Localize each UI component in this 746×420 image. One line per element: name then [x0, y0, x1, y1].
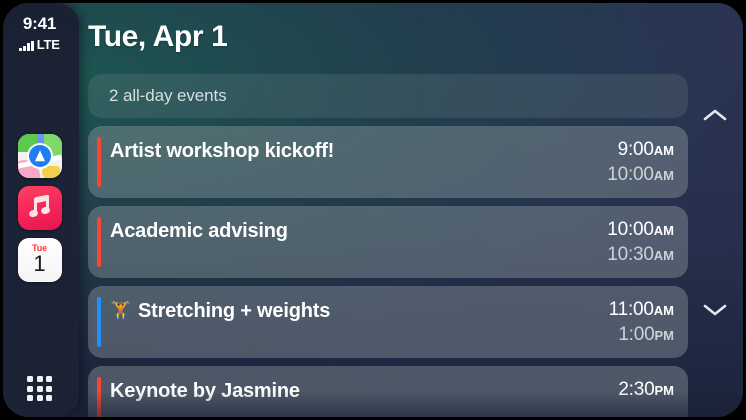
calendar-content: Tue, Apr 1 2 all-day events Artist works… [79, 3, 743, 417]
maps-navigation-badge [29, 145, 51, 167]
event-end-time: 10:00AM [607, 163, 674, 188]
event-times: 9:00AM 10:00AM [607, 138, 674, 188]
event-emoji: 🏋️ [110, 301, 131, 321]
calendar-day: 1 [33, 252, 45, 276]
cellular-bars-icon [19, 40, 34, 51]
event-accent-bar [97, 297, 101, 347]
music-icon[interactable] [18, 186, 62, 230]
event-start-time: 11:00AM [609, 298, 674, 323]
navigation-arrow-icon [35, 150, 45, 161]
app-rail: Tue 1 [3, 134, 76, 282]
maps-icon[interactable] [18, 134, 62, 178]
event-title: 🏋️ Stretching + weights [110, 299, 538, 323]
event-title: Artist workshop kickoff! [110, 139, 538, 163]
app-grid-button[interactable] [3, 376, 76, 401]
event-title-text: Keynote by Jasmine [110, 379, 300, 403]
event-accent-bar [97, 217, 101, 267]
event-times: 11:00AM 1:00PM [609, 298, 674, 348]
event-end-time: 10:30AM [607, 243, 674, 268]
event-card-3[interactable]: Keynote by Jasmine 2:30PM [88, 366, 688, 417]
all-day-events-row[interactable]: 2 all-day events [88, 74, 688, 118]
calendar-icon[interactable]: Tue 1 [18, 238, 62, 282]
sidebar: 9:41 LTE [3, 3, 79, 417]
event-title-text: Stretching + weights [138, 299, 330, 323]
event-title: Keynote by Jasmine [110, 379, 538, 403]
event-card-1[interactable]: Academic advising 10:00AM 10:30AM [88, 206, 688, 278]
event-title-text: Academic advising [110, 219, 288, 243]
music-note-icon [28, 196, 52, 220]
event-title: Academic advising [110, 219, 538, 243]
event-accent-bar [97, 377, 101, 417]
event-start-time: 2:30PM [618, 378, 674, 403]
maps-highway-shape [42, 166, 60, 178]
event-card-0[interactable]: Artist workshop kickoff! 9:00AM 10:00AM [88, 126, 688, 198]
event-list: 2 all-day events Artist workshop kickoff… [88, 74, 688, 417]
scroll-up-button[interactable] [702, 107, 728, 123]
event-accent-bar [97, 137, 101, 187]
page-title: Tue, Apr 1 [88, 20, 227, 54]
status-bar: 9:41 LTE [3, 14, 76, 51]
status-signal-row: LTE [3, 37, 76, 51]
event-title-text: Artist workshop kickoff! [110, 139, 334, 163]
all-day-events-label: 2 all-day events [109, 86, 226, 106]
event-times: 10:00AM 10:30AM [607, 218, 674, 268]
event-end-time: 1:00PM [609, 323, 674, 348]
event-times: 2:30PM [618, 378, 674, 403]
carplay-screen: 9:41 LTE [0, 0, 746, 420]
status-carrier: LTE [37, 39, 60, 51]
app-grid-icon [27, 376, 52, 401]
event-card-2[interactable]: 🏋️ Stretching + weights 11:00AM 1:00PM [88, 286, 688, 358]
device-frame: 9:41 LTE [3, 3, 743, 417]
event-start-time: 9:00AM [607, 138, 674, 163]
status-time: 9:41 [3, 14, 76, 34]
event-start-time: 10:00AM [607, 218, 674, 243]
scroll-down-button[interactable] [702, 302, 728, 318]
